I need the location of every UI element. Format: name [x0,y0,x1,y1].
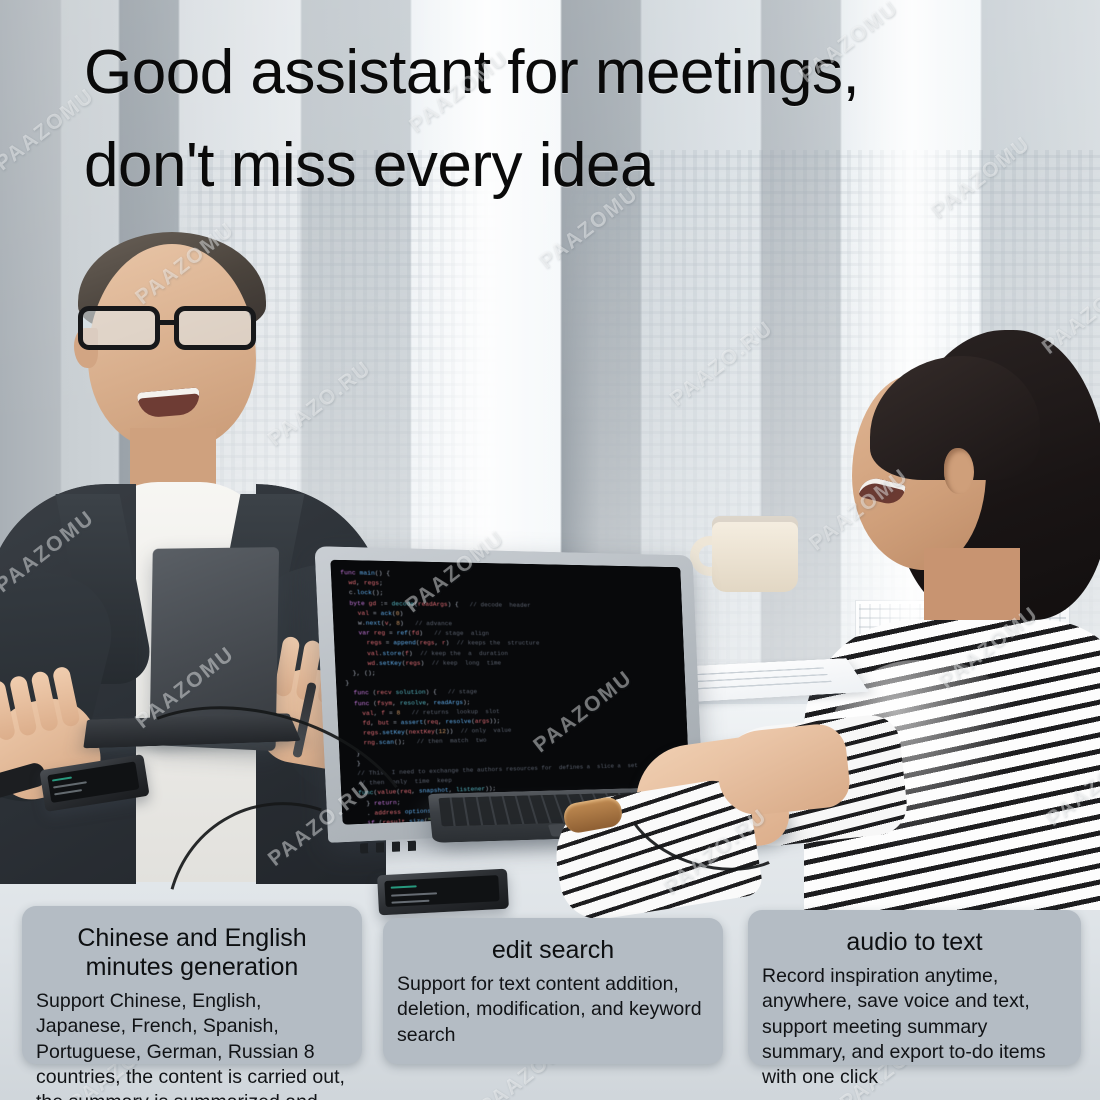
lens-right [174,306,256,350]
feature-card-body: Support for text content addition, delet… [397,972,709,1048]
code-line: regs = append(regs, r) // keeps the stru… [343,639,679,649]
lens-left [78,306,160,350]
feature-card-body: Support Chinese, English, Japanese, Fren… [36,989,348,1100]
recorder-text-line [53,781,87,788]
recorder-text-line [54,789,82,795]
recorder-text-line [391,900,429,904]
recorder-indicator [52,776,72,781]
feature-card-edit-search[interactable]: edit search Support for text content add… [383,918,723,1064]
feature-card-body: Record inspiration anytime, anywhere, sa… [762,964,1067,1091]
feature-card-audio-to-text[interactable]: audio to text Record inspiration anytime… [748,910,1081,1065]
eyeglasses-icon [74,306,270,352]
page-title: Good assistant for meetings, don't miss … [84,26,1034,212]
glasses-bridge [160,320,176,325]
feature-card-title: Chinese and English minutes generation [36,924,348,982]
feature-card-title: edit search [397,936,709,965]
recorder-text-line [391,892,437,896]
recorder-screen [384,875,499,907]
product-banner: Good assistant for meetings, don't miss … [0,0,1100,1100]
feature-card-title: audio to text [762,928,1067,957]
recorder-indicator [391,885,417,888]
recorder-screen [47,761,139,803]
ear [944,448,974,494]
voice-recorder-device-2 [377,869,509,916]
feature-card-minutes-generation[interactable]: Chinese and English minutes generation S… [22,906,362,1064]
